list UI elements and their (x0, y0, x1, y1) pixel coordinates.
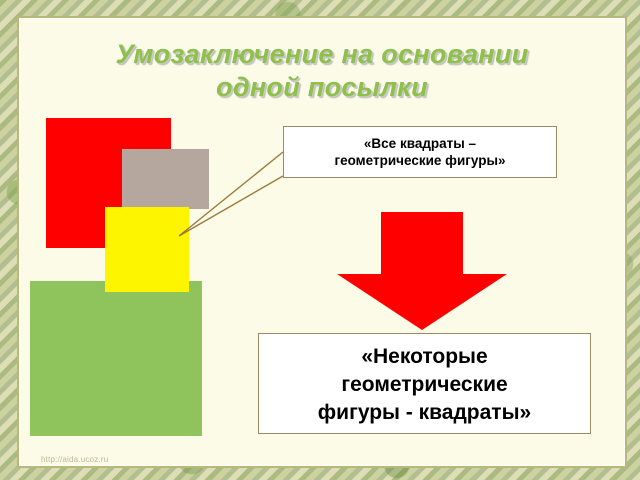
premise-line-1: «Все квадраты – (284, 135, 556, 152)
red-down-arrow-icon (337, 212, 507, 330)
green-square-shape (30, 281, 202, 436)
conclusion-line-1: «Некоторые (259, 343, 590, 371)
page-title-line-2: одной посылки (19, 71, 625, 104)
conclusion-callout: «Некоторые геометрические фигуры - квадр… (258, 333, 591, 434)
conclusion-line-2: геометрические (259, 371, 590, 399)
slide: Умозаключение на основании одной посылки… (0, 0, 640, 480)
watermark-text: http://aida.ucoz.ru (41, 455, 108, 464)
conclusion-line-3: фигуры - квадраты» (259, 399, 590, 427)
page-title-line-1: Умозаключение на основании (19, 38, 625, 71)
premise-line-2: геометрические фигуры» (284, 152, 556, 169)
slide-canvas: Умозаключение на основании одной посылки… (17, 16, 627, 468)
page-title: Умозаключение на основании одной посылки (19, 38, 625, 104)
premise-callout: «Все квадраты – геометрические фигуры» (283, 126, 557, 178)
gray-rectangle-shape (122, 149, 209, 209)
yellow-square-shape (105, 207, 189, 292)
